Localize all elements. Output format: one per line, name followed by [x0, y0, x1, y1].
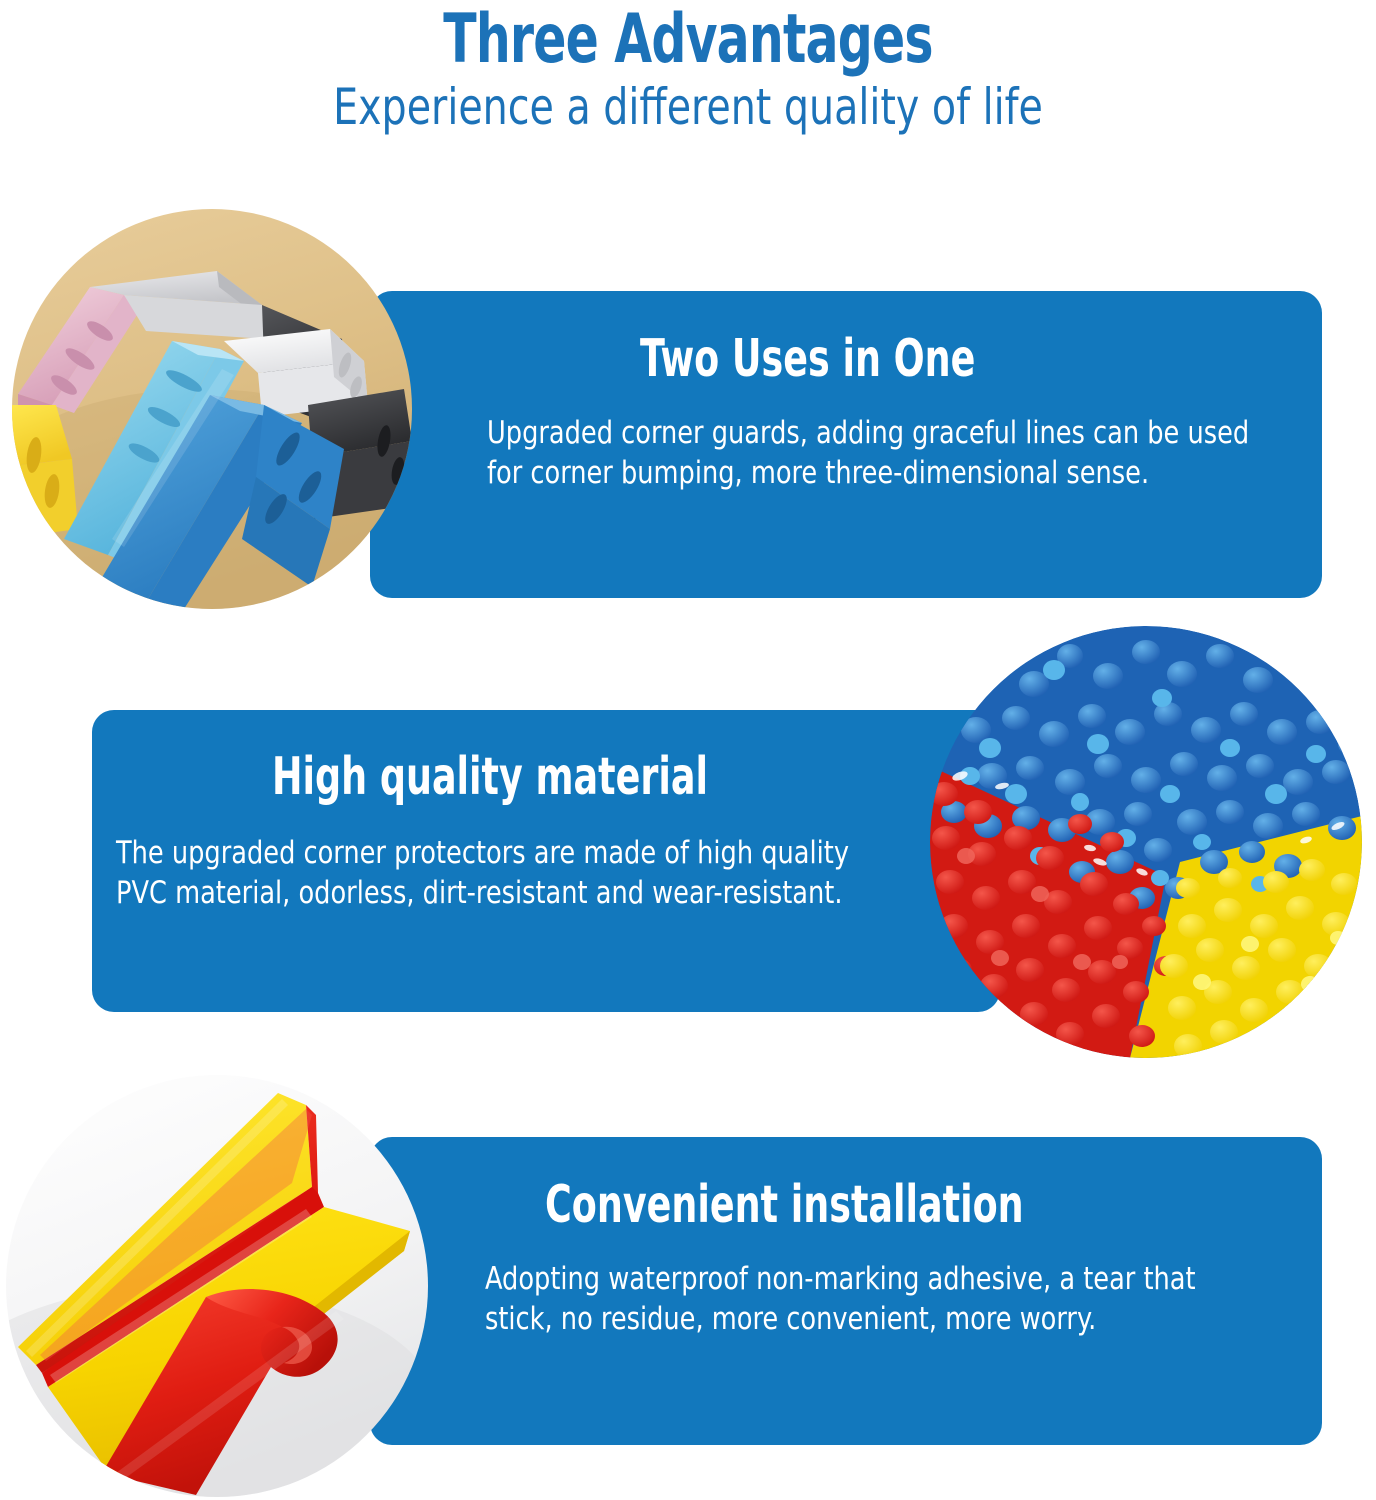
advantage-title-high-quality-material: High quality material [272, 748, 708, 806]
photo-corner-guard-profiles [12, 209, 412, 609]
page-header: Three Advantages Experience a different … [0, 0, 1376, 160]
photo-pvc-pellets [930, 626, 1362, 1058]
page-subtitle: Experience a different quality of life [83, 78, 1294, 136]
infographic-page: Three Advantages Experience a different … [0, 0, 1376, 1500]
advantage-body-convenient-installation: Adopting waterproof non-marking adhesive… [485, 1259, 1285, 1339]
photo-adhesive-backing-peel [6, 1075, 428, 1497]
advantage-title-convenient-installation: Convenient installation [545, 1176, 1024, 1234]
advantage-body-high-quality-material: The upgraded corner protectors are made … [116, 833, 907, 913]
page-title: Three Advantages [138, 4, 1239, 76]
advantage-body-two-uses-in-one: Upgraded corner guards, adding graceful … [487, 413, 1287, 493]
advantage-title-two-uses-in-one: Two Uses in One [640, 330, 975, 388]
